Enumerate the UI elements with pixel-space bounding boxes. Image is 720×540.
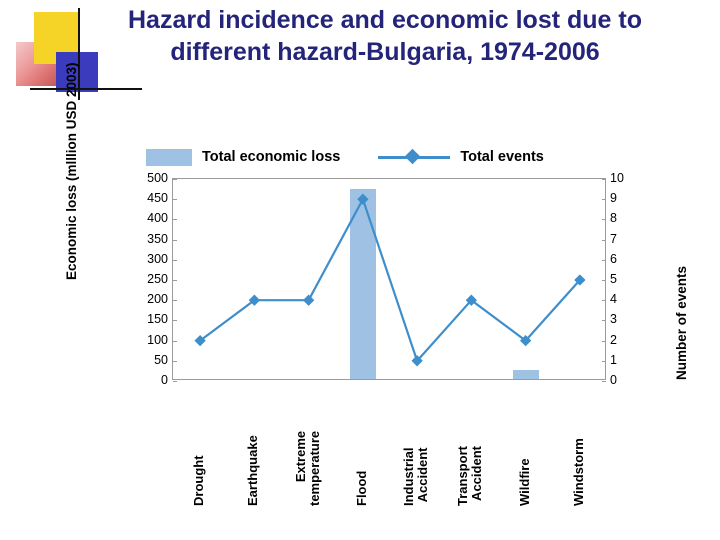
y-tick-right: 6 [610,252,617,266]
y-axis-right-ticks: 109876543210 [610,178,640,380]
x-axis-label: IndustrialAccident [402,447,430,506]
x-axis-label: Extremetemperature [294,431,322,506]
y-tick-left: 150 [147,312,168,326]
y-axis-left-title: Economic loss (mlllion USD 2003) [64,62,79,280]
y-axis-left-ticks: 500450400350300250200150100500 [124,178,168,380]
logo-horizontal-line-2 [116,88,142,90]
plot-area [172,178,606,380]
y-tick-left: 0 [161,373,168,387]
y-tick-right: 7 [610,232,617,246]
axis-tick-mark [173,381,177,382]
y-axis-right-title: Number of events [674,266,689,380]
x-axis-label: TransportAccident [456,446,484,506]
x-axis-label: Wildfire [518,458,532,506]
chart-legend: Total economic loss Total events [146,144,636,170]
y-tick-left: 400 [147,211,168,225]
y-tick-right: 10 [610,171,624,185]
y-tick-left: 350 [147,232,168,246]
x-axis-label: Earthquake [246,435,260,506]
legend-line-label: Total events [460,149,544,165]
y-tick-left: 450 [147,191,168,205]
y-tick-left: 250 [147,272,168,286]
y-tick-right: 1 [610,353,617,367]
x-axis-label: Windstorm [572,438,586,506]
axis-tick-mark [602,381,606,382]
y-tick-left: 50 [154,353,168,367]
page-title-line-2: different hazard-Bulgaria, 1974-2006 [60,36,710,68]
x-axis-label: Flood [355,471,369,506]
legend-line-icon [378,150,450,164]
legend-bar-label: Total economic loss [202,149,340,165]
y-tick-right: 9 [610,191,617,205]
page-title-line-1: Hazard incidence and economic lost due t… [128,6,642,34]
y-tick-left: 200 [147,292,168,306]
line-marker [357,194,368,205]
y-tick-right: 0 [610,373,617,387]
y-tick-right: 5 [610,272,617,286]
legend-line-marker [405,149,421,165]
y-tick-left: 100 [147,333,168,347]
x-axis-labels: DroughtEarthquakeExtremetemperatureFlood… [172,384,606,514]
page-title: Hazard incidence and economic lost due t… [60,4,710,68]
y-tick-right: 4 [610,292,617,306]
x-axis-label: Drought [192,455,206,506]
y-tick-left: 500 [147,171,168,185]
y-tick-right: 8 [610,211,617,225]
legend-bar-swatch [146,149,192,166]
chart-container: Total economic loss Total events Economi… [76,130,700,530]
y-tick-right: 2 [610,333,617,347]
line-series [173,179,607,381]
line-marker [303,295,314,306]
y-tick-left: 300 [147,252,168,266]
y-tick-right: 3 [610,312,617,326]
